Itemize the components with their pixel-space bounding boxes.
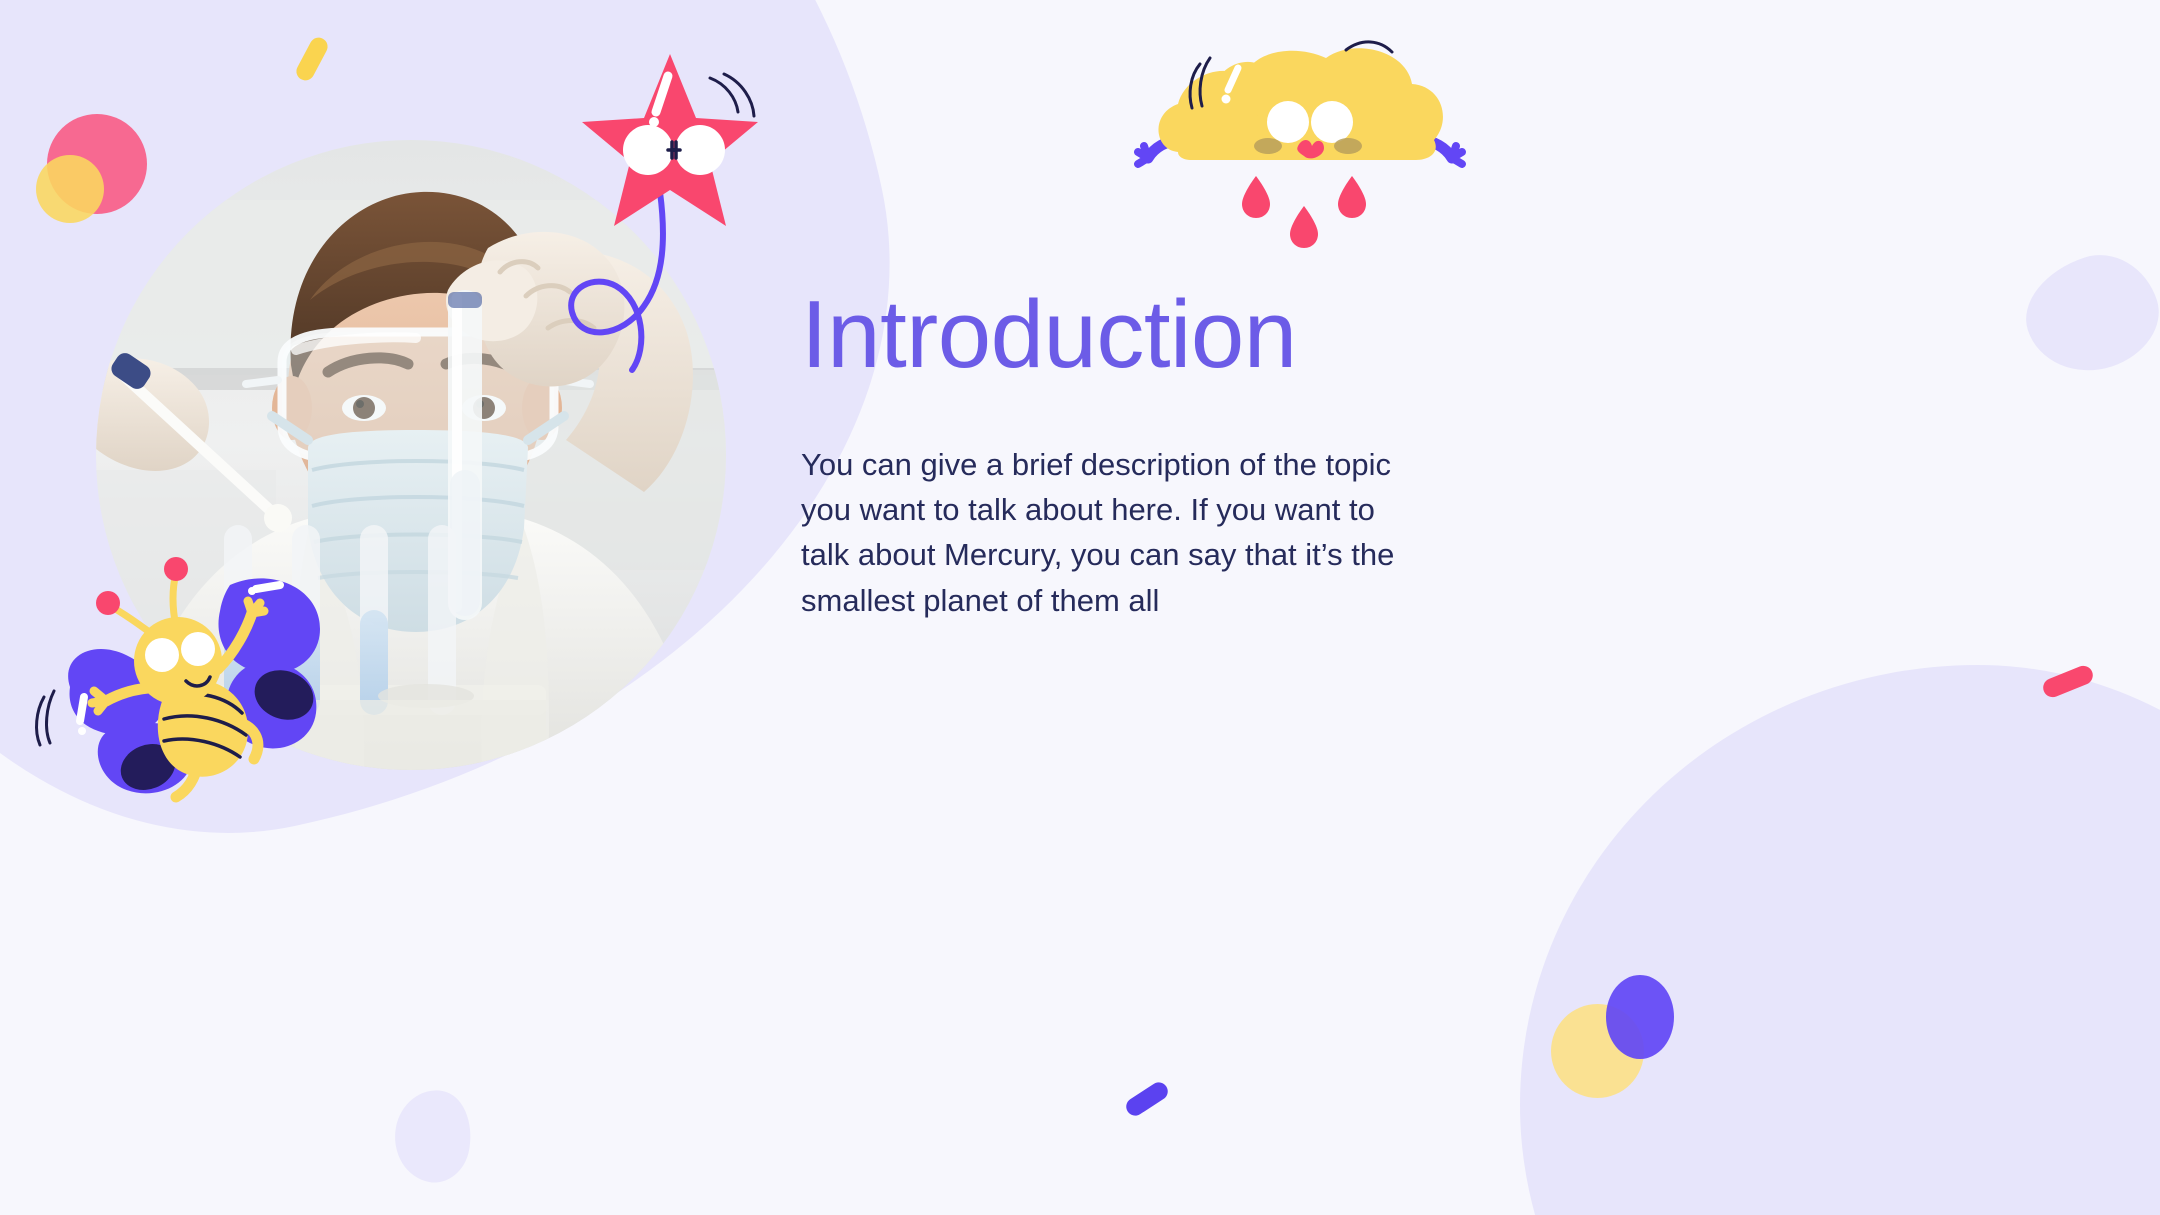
star-character [580,50,760,235]
cloud-character [1140,28,1460,233]
circle-purple-bottom-right [1606,975,1674,1059]
blob-bottom-small-shape [388,1084,479,1188]
presentation-slide: Introduction You can give a brief descri… [0,0,2160,1215]
page-title: Introduction [801,285,1441,386]
squiggle-pink-right [2040,663,2095,700]
slide-body-text: You can give a brief description of the … [801,442,1426,623]
slide-text-block: Introduction You can give a brief descri… [801,285,1441,623]
pill-yellow-top [293,34,330,83]
bee-butterfly-character [30,545,320,800]
blob-bottom-right-shape [1520,665,2160,1215]
circle-yellow-top-left [36,155,104,223]
circle-pink-top-left [47,114,147,214]
circle-yellow-bottom-right [1551,1004,1644,1098]
blob-right-middle-shape [2012,240,2160,387]
squiggle-purple-bottom [1123,1079,1171,1119]
